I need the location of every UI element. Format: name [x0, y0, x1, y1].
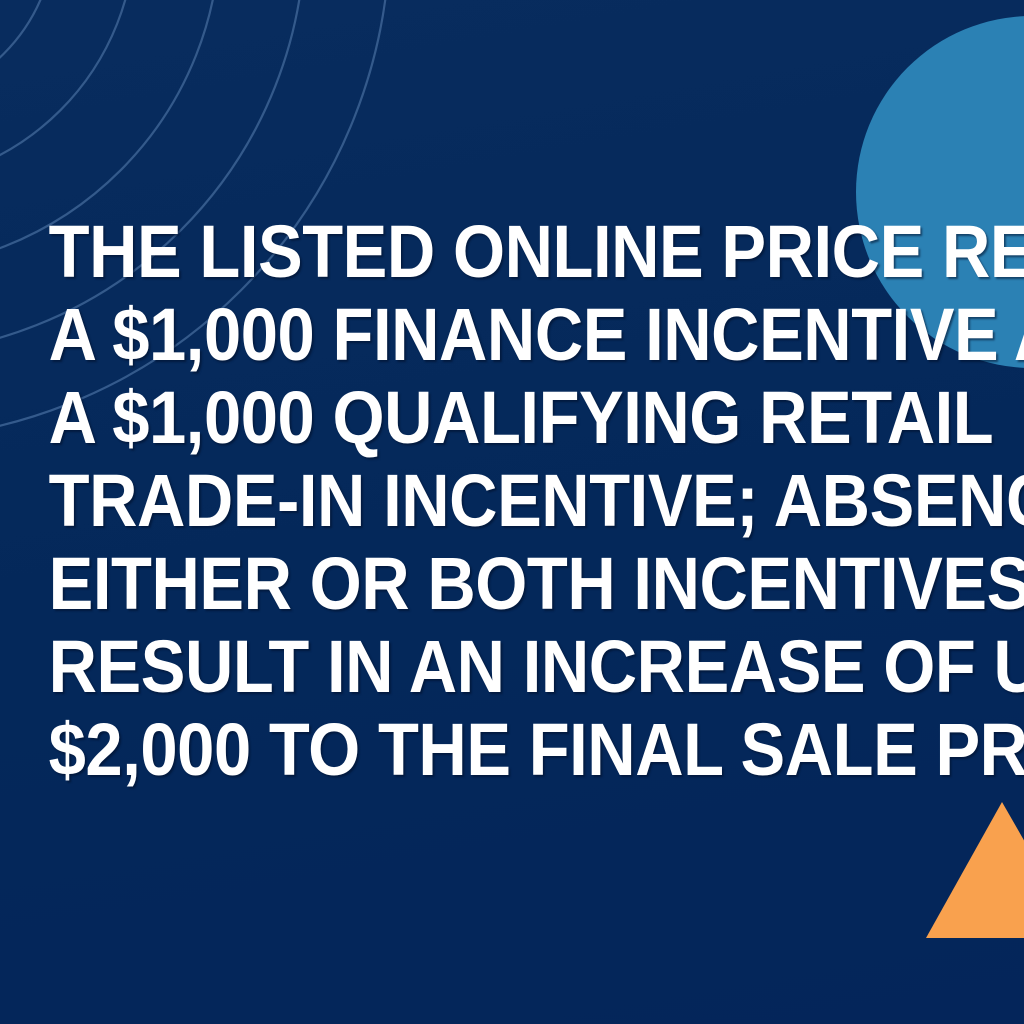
disclaimer-line-3: A $1,000 QUALIFYING RETAIL — [49, 376, 976, 459]
disclaimer-text-block: THE LISTED ONLINE PRICE REFLECTS A $1,00… — [0, 0, 1024, 1024]
disclaimer-lines: THE LISTED ONLINE PRICE REFLECTS A $1,00… — [0, 210, 1024, 791]
disclaimer-line-6: RESULT IN AN INCREASE OF UP TO — [49, 625, 976, 708]
disclaimer-line-1: THE LISTED ONLINE PRICE REFLECTS — [49, 210, 976, 293]
promo-disclaimer-banner: THE LISTED ONLINE PRICE REFLECTS A $1,00… — [0, 0, 1024, 1024]
disclaimer-line-5: EITHER OR BOTH INCENTIVES WILL — [49, 542, 976, 625]
disclaimer-line-2: A $1,000 FINANCE INCENTIVE AND — [49, 293, 976, 376]
disclaimer-line-4: TRADE-IN INCENTIVE; ABSENCE OF — [49, 459, 976, 542]
disclaimer-line-7: $2,000 TO THE FINAL SALE PRICE. — [49, 708, 976, 791]
